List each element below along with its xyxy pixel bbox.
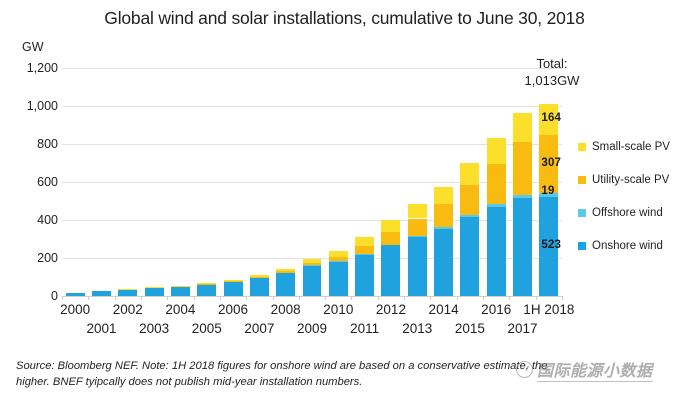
bar-segment-onshore-wind (434, 229, 453, 296)
bar-segment-onshore-wind (250, 278, 269, 296)
bar-value-label-utility-scale-pv: 307 (541, 157, 561, 169)
legend: Small-scale PVUtility-scale PVOffshore w… (578, 130, 689, 262)
legend-swatch-icon (578, 209, 586, 217)
bar-segment-utility-scale-pv (303, 263, 322, 265)
x-axis-tick-label: 2007 (244, 321, 274, 336)
bar-segment-utility-scale-pv (355, 246, 374, 254)
bar-slot (536, 68, 562, 296)
x-axis-tick-label: 2013 (402, 321, 432, 336)
bar-slot (141, 68, 167, 296)
bar-segment-offshore-wind (487, 204, 506, 207)
bar-segment-offshore-wind (434, 227, 453, 229)
bar-segment-onshore-wind (513, 198, 532, 296)
total-annotation-line2: 1,013GW (497, 73, 607, 90)
bar-value-label-small-scale-pv: 164 (541, 112, 561, 124)
stacked-bar[interactable] (460, 163, 479, 296)
bar-segment-utility-scale-pv (329, 257, 348, 261)
bar-segment-utility-scale-pv (513, 142, 532, 195)
stacked-bar[interactable] (197, 284, 216, 296)
x-axis-tick-mark (509, 296, 510, 300)
x-axis-tick-mark (457, 296, 458, 300)
x-axis-tick-mark (167, 296, 168, 300)
x-axis-tick-label: 2008 (271, 302, 301, 317)
x-axis-tick-mark (141, 296, 142, 300)
x-axis-tick-label: 2002 (113, 302, 143, 317)
bar-segment-utility-scale-pv (487, 164, 506, 204)
bar-slot (404, 68, 430, 296)
bar-segment-small-scale-pv (171, 286, 190, 287)
x-axis-tick-label: 2010 (323, 302, 353, 317)
bar-segment-offshore-wind (408, 236, 427, 237)
source-note: Source: Bloomberg NEF. Note: 1H 2018 fig… (16, 358, 671, 390)
stacked-bar[interactable] (408, 204, 427, 296)
bar-slot (194, 68, 220, 296)
legend-item-small-scale-pv[interactable]: Small-scale PV (578, 130, 689, 163)
stacked-bar[interactable] (513, 113, 532, 296)
x-axis-tick-label: 2012 (376, 302, 406, 317)
x-axis-tick-mark (273, 296, 274, 300)
bar-segment-small-scale-pv (329, 251, 348, 257)
bar-segment-small-scale-pv (276, 269, 295, 271)
stacked-bar[interactable] (381, 220, 400, 296)
bar-segment-onshore-wind (381, 245, 400, 296)
bar-slot (483, 68, 509, 296)
bar-slot (351, 68, 377, 296)
stacked-bar[interactable] (224, 280, 243, 296)
x-axis-tick-mark (378, 296, 379, 300)
bar-segment-small-scale-pv (355, 237, 374, 245)
bar-segment-onshore-wind (408, 237, 427, 296)
bar-segment-small-scale-pv (408, 204, 427, 218)
x-axis-tick-mark (430, 296, 431, 300)
x-axis-tick-label: 2003 (139, 321, 169, 336)
bar-segment-small-scale-pv (487, 138, 506, 164)
bar-segment-onshore-wind (460, 217, 479, 296)
bar-slot (430, 68, 456, 296)
x-axis-tick-label: 2014 (429, 302, 459, 317)
x-axis-tick-label: 2011 (350, 321, 379, 336)
bar-segment-onshore-wind (303, 266, 322, 296)
legend-label: Utility-scale PV (592, 174, 669, 186)
bar-segment-small-scale-pv (303, 259, 322, 263)
bar-segment-small-scale-pv (145, 287, 164, 288)
legend-item-utility-scale-pv[interactable]: Utility-scale PV (578, 163, 689, 196)
x-axis-tick-mark (299, 296, 300, 300)
stacked-bar[interactable] (276, 269, 295, 296)
bar-segment-small-scale-pv (460, 163, 479, 185)
stacked-bar[interactable] (539, 104, 558, 296)
stacked-bar[interactable] (329, 251, 348, 296)
bar-segment-small-scale-pv (434, 187, 453, 205)
legend-item-onshore-wind[interactable]: Onshore wind (578, 229, 689, 262)
bar-segment-offshore-wind (460, 215, 479, 217)
x-axis-tick-label: 2006 (218, 302, 248, 317)
bar-slot (509, 68, 535, 296)
bar-slot (115, 68, 141, 296)
bar-segment-utility-scale-pv (460, 185, 479, 215)
bar-segment-onshore-wind (171, 287, 190, 296)
bar-value-label-onshore-wind: 523 (541, 239, 561, 251)
x-axis-tick-mark (351, 296, 352, 300)
bar-slot (88, 68, 114, 296)
legend-swatch-icon (578, 143, 586, 151)
x-axis-tick-mark (62, 296, 63, 300)
x-axis-tick-label: 2016 (481, 302, 511, 317)
legend-swatch-icon (578, 242, 586, 250)
stacked-bar[interactable] (434, 187, 453, 296)
x-axis-tick-mark (88, 296, 89, 300)
bar-segment-onshore-wind (329, 262, 348, 296)
legend-swatch-icon (578, 176, 586, 184)
x-axis-tick-mark (562, 296, 563, 300)
legend-label: Offshore wind (592, 207, 663, 219)
x-axis-tick-label: 2000 (60, 302, 90, 317)
stacked-bar[interactable] (487, 138, 506, 296)
bar-segment-onshore-wind (224, 282, 243, 296)
bar-segment-onshore-wind (145, 288, 164, 296)
source-note-line1: Source: Bloomberg NEF. Note: 1H 2018 fig… (16, 358, 671, 374)
bar-slot (167, 68, 193, 296)
bar-slot (299, 68, 325, 296)
x-axis-tick-label: 2004 (165, 302, 195, 317)
x-axis-tick-label: 2005 (192, 321, 222, 336)
y-axis-tick-label: 800 (6, 137, 58, 151)
y-axis-tick-label: 600 (6, 175, 58, 189)
bar-segment-small-scale-pv (250, 275, 269, 277)
bar-segment-utility-scale-pv (408, 219, 427, 236)
plot-area: 52319307164 (62, 68, 562, 296)
bar-segment-small-scale-pv (513, 113, 532, 143)
bar-segment-onshore-wind (197, 285, 216, 296)
x-axis-tick-label: 1H 2018 (523, 302, 574, 317)
bar-segment-small-scale-pv (118, 289, 137, 290)
page-title: Global wind and solar installations, cum… (0, 8, 689, 29)
stacked-bar[interactable] (250, 275, 269, 296)
total-annotation: Total: 1,013GW (497, 56, 607, 89)
bar-slot (62, 68, 88, 296)
y-axis-tick-label: 400 (6, 213, 58, 227)
bar-segment-utility-scale-pv (434, 204, 453, 227)
x-axis-tick-mark (220, 296, 221, 300)
x-axis-tick-mark (404, 296, 405, 300)
legend-item-offshore-wind[interactable]: Offshore wind (578, 196, 689, 229)
y-axis-tick-label: 200 (6, 251, 58, 265)
legend-label: Small-scale PV (592, 141, 670, 153)
bar-segment-utility-scale-pv (381, 232, 400, 245)
x-axis-tick-mark (115, 296, 116, 300)
bar-slot (378, 68, 404, 296)
bar-segment-onshore-wind (355, 255, 374, 296)
bar-segment-small-scale-pv (224, 280, 243, 281)
x-axis-tick-label: 2017 (507, 321, 537, 336)
x-axis-tick-label: 2001 (86, 321, 116, 336)
stacked-bar[interactable] (303, 259, 322, 296)
total-annotation-line1: Total: (497, 56, 607, 73)
stacked-bar[interactable] (171, 286, 190, 296)
x-axis-tick-mark (483, 296, 484, 300)
source-note-line2: higher. BNEF tyipcally does not publish … (16, 374, 671, 390)
bar-slot (246, 68, 272, 296)
x-axis-tick-mark (325, 296, 326, 300)
y-axis-unit-label: GW (22, 40, 44, 54)
bar-segment-offshore-wind (513, 195, 532, 198)
y-axis-tick-label: 0 (6, 289, 58, 303)
y-axis-tick-label: 1,000 (6, 99, 58, 113)
x-axis: 2000200120022003200420052006200720082009… (62, 296, 562, 346)
stacked-bar[interactable] (355, 237, 374, 296)
x-axis-tick-label: 2009 (297, 321, 327, 336)
bar-segment-utility-scale-pv (276, 271, 295, 273)
y-axis-tick-labels: 02004006008001,0001,200 (0, 68, 58, 296)
bar-slot (273, 68, 299, 296)
bar-segment-small-scale-pv (197, 283, 216, 284)
chart-page: Global wind and solar installations, cum… (0, 0, 689, 400)
y-axis-tick-label: 1,200 (6, 61, 58, 75)
x-axis-tick-mark (246, 296, 247, 300)
bar-segment-small-scale-pv (381, 220, 400, 232)
x-axis-tick-label: 2015 (455, 321, 485, 336)
bar-slot (457, 68, 483, 296)
x-axis-tick-mark (194, 296, 195, 300)
legend-label: Onshore wind (592, 240, 663, 252)
bar-segment-onshore-wind (276, 273, 295, 296)
stacked-bar[interactable] (145, 288, 164, 296)
bar-value-label-offshore-wind: 19 (541, 185, 554, 197)
bar-slot (220, 68, 246, 296)
x-axis-tick-mark (536, 296, 537, 300)
bar-slot (325, 68, 351, 296)
bar-segment-onshore-wind (487, 207, 506, 296)
